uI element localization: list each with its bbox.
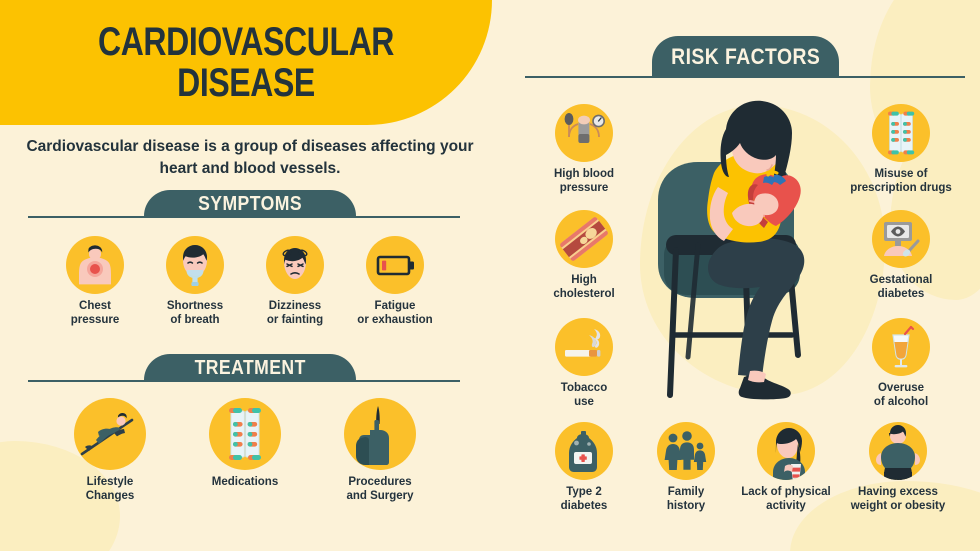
high-jump-athlete-icon — [74, 398, 146, 470]
risk-label: High cholesterol — [544, 274, 624, 301]
symptom-item-chest-pressure[interactable]: Chest pressure — [55, 236, 135, 327]
treatment-label: Procedures and Surgery — [338, 476, 422, 503]
symptom-item-fatigue[interactable]: Fatigue or exhaustion — [355, 236, 435, 327]
risk-factors-section-header: RISK FACTORS — [652, 36, 839, 78]
symptom-item-dizziness[interactable]: Dizziness or fainting — [255, 236, 335, 327]
chest-pressure-icon — [66, 236, 124, 294]
risk-label: High blood pressure — [544, 168, 624, 195]
blood-pressure-cuff-icon — [555, 104, 613, 162]
infographic-canvas: CARDIOVASCULAR DISEASE Cardiovascular di… — [0, 0, 980, 551]
risk-factors-section-label: RISK FACTORS — [671, 44, 820, 70]
symptom-label: Dizziness or fainting — [255, 300, 335, 327]
surgery-scalpel-hand-icon — [344, 398, 416, 470]
insulin-kit-icon — [555, 422, 613, 480]
risk-label: Overuse of alcohol — [850, 382, 952, 409]
symptoms-section-label: SYMPTOMS — [198, 193, 302, 216]
overweight-person-icon — [869, 422, 927, 480]
risk-label: Gestational diabetes — [850, 274, 952, 301]
symptom-label: Fatigue or exhaustion — [355, 300, 435, 327]
risk-item-gestational-diabetes[interactable]: Gestational diabetes — [850, 210, 952, 301]
treatment-item-lifestyle-changes[interactable]: Lifestyle Changes — [68, 398, 152, 503]
symptom-item-shortness-of-breath[interactable]: Shortness of breath — [155, 236, 235, 327]
treatment-section-header: TREATMENT — [144, 354, 356, 382]
symptom-label: Shortness of breath — [155, 300, 235, 327]
risk-item-high-blood-pressure[interactable]: High blood pressure — [544, 104, 624, 195]
risk-item-type-2-diabetes[interactable]: Type 2 diabetes — [546, 422, 622, 513]
family-group-icon — [657, 422, 715, 480]
risk-label: Tobacco use — [544, 382, 624, 409]
dizzy-face-icon — [266, 236, 324, 294]
risk-label: Family history — [648, 486, 724, 513]
cocktail-glass-icon — [872, 318, 930, 376]
pill-blister-pack-icon — [872, 104, 930, 162]
treatment-item-medications[interactable]: Medications — [203, 398, 287, 490]
risk-label: Lack of physical activity — [738, 486, 834, 513]
symptoms-section-header: SYMPTOMS — [144, 190, 356, 218]
risk-item-high-cholesterol[interactable]: High cholesterol — [544, 210, 624, 301]
risk-label: Type 2 diabetes — [546, 486, 622, 513]
risk-label: Misuse of prescription drugs — [850, 168, 952, 195]
risk-item-lack-of-physical-activity[interactable]: Lack of physical activity — [738, 422, 834, 513]
page-subtitle: Cardiovascular disease is a group of dis… — [20, 136, 480, 180]
risk-item-misuse-prescription-drugs[interactable]: Misuse of prescription drugs — [850, 104, 952, 195]
treatment-item-procedures-surgery[interactable]: Procedures and Surgery — [338, 398, 422, 503]
risk-item-tobacco-use[interactable]: Tobacco use — [544, 318, 624, 409]
treatment-label: Medications — [203, 476, 287, 490]
page-title-line1: CARDIOVASCULAR — [49, 22, 443, 63]
cigarette-icon — [555, 318, 613, 376]
risk-item-overuse-of-alcohol[interactable]: Overuse of alcohol — [850, 318, 952, 409]
risk-label: Having excess weight or obesity — [842, 486, 954, 513]
ultrasound-monitor-icon — [872, 210, 930, 268]
pill-blister-pack-icon — [209, 398, 281, 470]
symptom-label: Chest pressure — [55, 300, 135, 327]
oxygen-mask-icon — [166, 236, 224, 294]
artery-plaque-icon — [555, 210, 613, 268]
low-battery-icon — [366, 236, 424, 294]
treatment-section-label: TREATMENT — [194, 357, 305, 380]
page-title-line2: DISEASE — [49, 63, 443, 104]
treatment-label: Lifestyle Changes — [68, 476, 152, 503]
risk-item-excess-weight-obesity[interactable]: Having excess weight or obesity — [842, 422, 954, 513]
risk-item-family-history[interactable]: Family history — [648, 422, 724, 513]
page-title: CARDIOVASCULAR DISEASE — [49, 22, 443, 104]
person-soda-icon — [757, 422, 815, 480]
